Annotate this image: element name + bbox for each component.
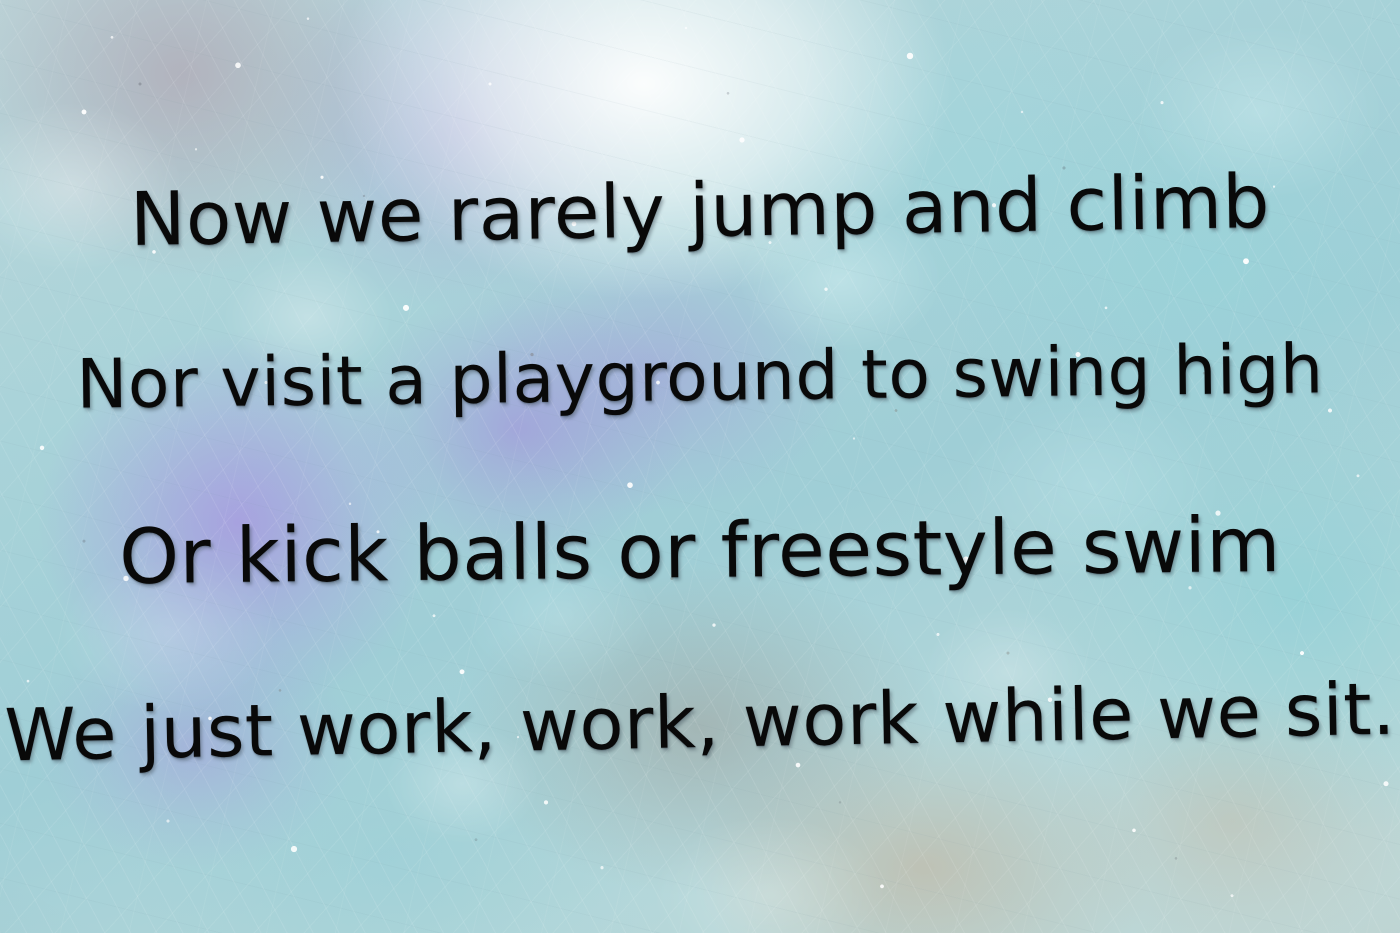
poem-line-3: Or kick balls or freestyle swim: [0, 499, 1400, 603]
quote-image-canvas: Now we rarely jump and climb Nor visit a…: [0, 0, 1400, 933]
poem-line-2: Nor visit a playground to swing high: [0, 329, 1400, 425]
poem-line-4: We just work, work, work while we sit.: [0, 667, 1400, 778]
poem-line-1: Now we rarely jump and climb: [0, 157, 1400, 265]
poem-text-block: Now we rarely jump and climb Nor visit a…: [0, 0, 1400, 933]
